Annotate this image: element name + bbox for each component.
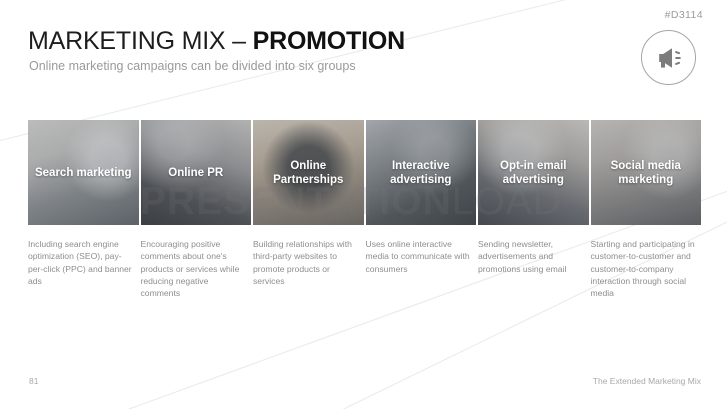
card-description: Including search engine optimization (SE… (28, 238, 139, 287)
card-online-partnerships[interactable]: Online Partnerships Building relationshi… (253, 120, 364, 299)
card-label: Search marketing (28, 120, 139, 225)
marketing-mix-card-row: Search marketing Including search engine… (28, 120, 699, 299)
card-description: Encouraging positive comments about one'… (141, 238, 252, 299)
card-online-pr[interactable]: Online PR Encouraging positive comments … (141, 120, 252, 299)
card-media: Online PR (141, 120, 252, 225)
page-number: 81 (29, 376, 38, 386)
card-description: Building relationships with third-party … (253, 238, 364, 287)
page-title-bold: PROMOTION (253, 27, 405, 55)
card-label: Online PR (141, 120, 252, 225)
card-interactive-advertising[interactable]: Interactive advertising Uses online inte… (366, 120, 477, 299)
page-subtitle: Online marketing campaigns can be divide… (29, 58, 356, 74)
card-media: Search marketing (28, 120, 139, 225)
footer-note: The Extended Marketing Mix (593, 376, 701, 386)
megaphone-badge (641, 30, 696, 85)
megaphone-icon (655, 47, 683, 69)
card-label: Social media marketing (591, 120, 702, 225)
card-media: Opt-in email advertising (478, 120, 589, 225)
document-code: #D3114 (665, 9, 703, 21)
card-media: Interactive advertising (366, 120, 477, 225)
card-search-marketing[interactable]: Search marketing Including search engine… (28, 120, 139, 299)
page-title-light: MARKETING MIX – (28, 27, 253, 55)
card-description: Sending newsletter, advertisements and p… (478, 238, 589, 275)
card-label: Opt-in email advertising (478, 120, 589, 225)
slide: #D3114 MARKETING MIX – PROMOTION Online … (0, 0, 727, 409)
card-media: Social media marketing (591, 120, 702, 225)
card-social-media-marketing[interactable]: Social media marketing Starting and part… (591, 120, 702, 299)
card-label: Interactive advertising (366, 120, 477, 225)
card-description: Uses online interactive media to communi… (366, 238, 477, 275)
card-media: Online Partnerships (253, 120, 364, 225)
card-opt-in-email-advertising[interactable]: Opt-in email advertising Sending newslet… (478, 120, 589, 299)
footer-divider (0, 366, 727, 367)
card-description: Starting and participating in customer-t… (591, 238, 702, 299)
card-label: Online Partnerships (253, 120, 364, 225)
page-title: MARKETING MIX – PROMOTION (28, 26, 405, 56)
